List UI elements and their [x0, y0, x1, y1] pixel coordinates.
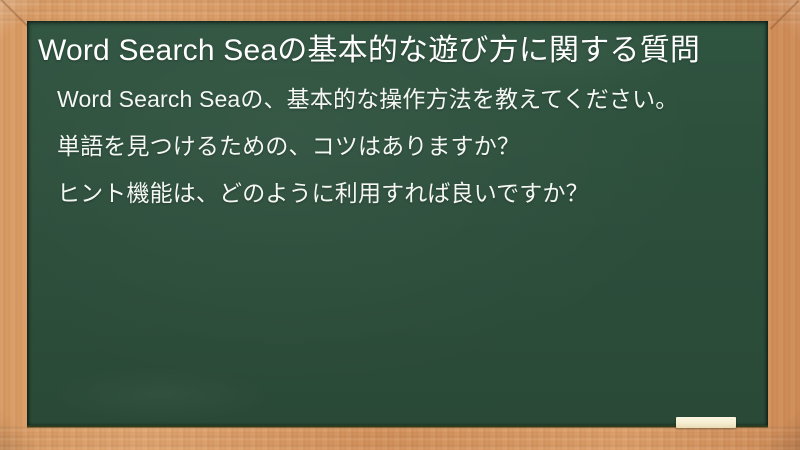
list-item: 単語を見つけるための、コツはありますか？	[57, 130, 739, 163]
blackboard-frame: Word Search Seaの基本的な遊び方に関する質問 Word Searc…	[0, 0, 800, 450]
chalk-stick-icon	[676, 417, 736, 428]
chalkboard-surface: Word Search Seaの基本的な遊び方に関する質問 Word Searc…	[27, 21, 768, 427]
board-content: Word Search Seaの基本的な遊び方に関する質問 Word Searc…	[27, 21, 768, 210]
frame-miter-seam-top-right	[770, 0, 800, 30]
question-list: Word Search Seaの、基本的な操作方法を教えてください。 単語を見つ…	[38, 83, 756, 210]
list-item: Word Search Seaの、基本的な操作方法を教えてください。	[57, 83, 739, 116]
list-item: ヒント機能は、どのように利用すれば良いですか？	[57, 177, 739, 210]
board-ledge-shadow	[27, 425, 768, 428]
page-title: Word Search Seaの基本的な遊び方に関する質問	[38, 30, 756, 71]
frame-miter-seam-top-left	[0, 0, 30, 28]
wood-grain-bottom-rail	[0, 426, 800, 450]
